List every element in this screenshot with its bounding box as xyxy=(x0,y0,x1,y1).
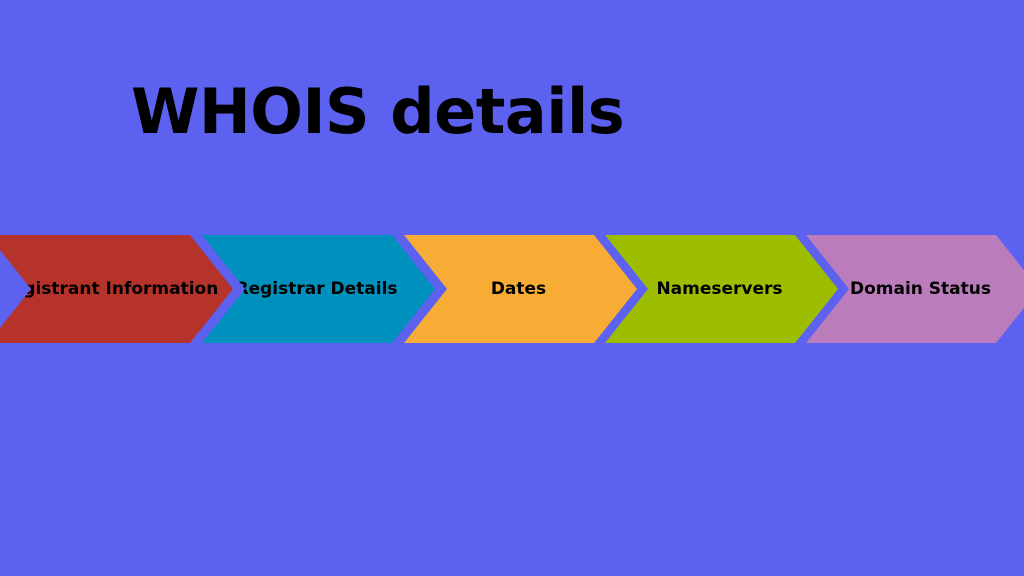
process-chevron-band: Registrant Information Registrar Details… xyxy=(0,235,1024,343)
process-step-nameservers[interactable]: Nameservers xyxy=(605,235,838,343)
page-title: WHOIS details xyxy=(131,79,624,144)
process-step-registrar-details[interactable]: Registrar Details xyxy=(202,235,435,343)
slide-canvas: WHOIS details Registrant Information Reg… xyxy=(0,0,1024,576)
process-step-domain-status[interactable]: Domain Status xyxy=(806,235,1024,343)
process-step-label: Domain Status xyxy=(840,279,1005,299)
process-step-label: Registrant Information xyxy=(0,279,232,299)
process-step-dates[interactable]: Dates xyxy=(404,235,637,343)
process-step-label: Nameservers xyxy=(646,279,796,299)
process-step-registrant-information[interactable]: Registrant Information xyxy=(0,235,233,343)
process-step-label: Dates xyxy=(481,279,560,299)
process-step-label: Registrar Details xyxy=(225,279,411,299)
